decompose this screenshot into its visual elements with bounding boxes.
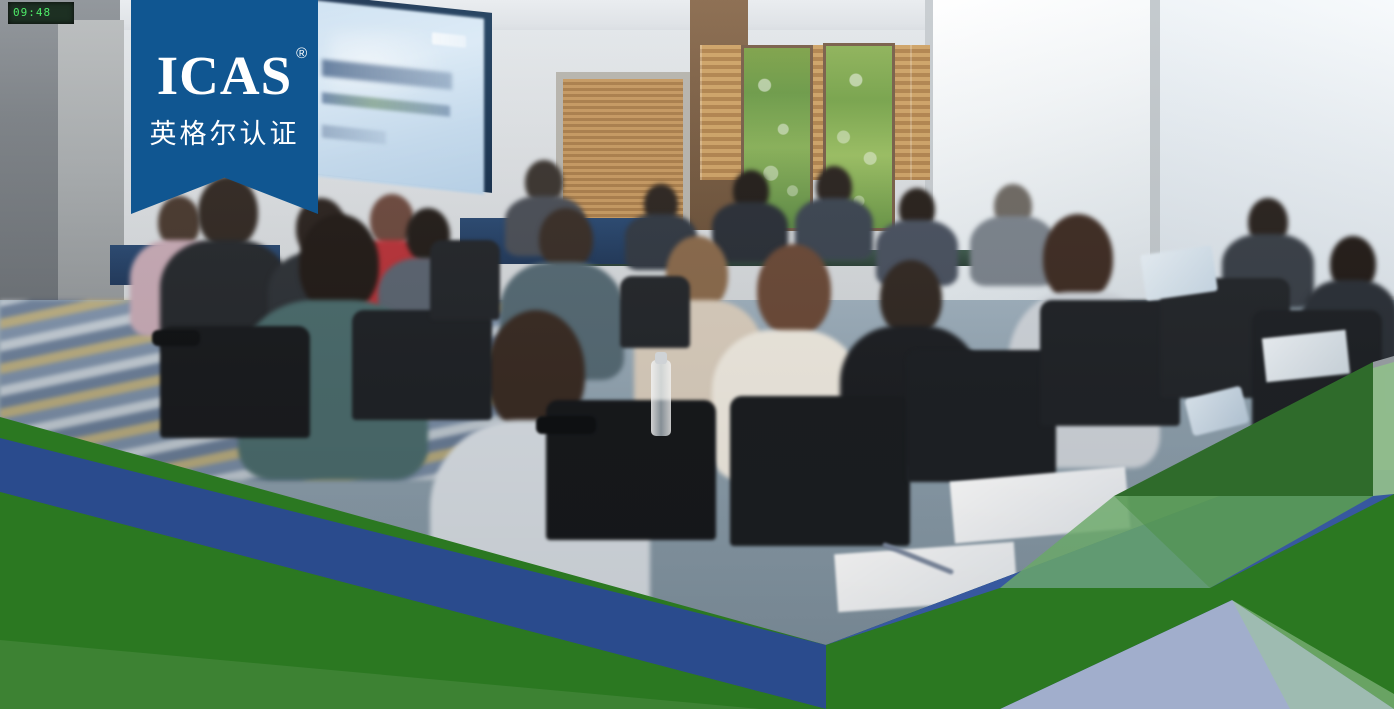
icas-wordmark-text: ICAS [157, 45, 292, 106]
registered-trademark-icon: ® [296, 46, 308, 61]
icas-banner: 09:48 [0, 0, 1394, 709]
icas-chinese-name: 英格尔认证 [150, 112, 300, 151]
icas-wordmark: ICAS ® [157, 48, 292, 103]
